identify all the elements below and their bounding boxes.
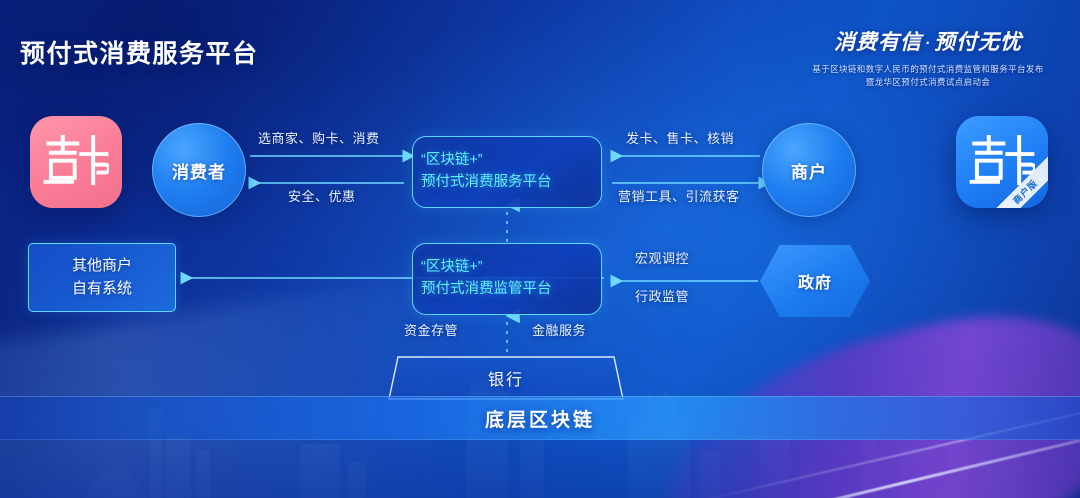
diagram-node-consumer[interactable]: 消费者 <box>152 123 246 217</box>
regulatory-platform-line-1: “区块链+” <box>421 257 593 279</box>
edge-label-consumer-to-platform: 选商家、购卡、消费 <box>258 128 380 147</box>
diagram-node-regulatory-platform[interactable]: “区块链+” 预付式消费监管平台 <box>412 243 602 315</box>
page-title: 预付式消费服务平台 <box>20 34 259 70</box>
service-platform-line-2: 预付式消费服务平台 <box>421 172 593 194</box>
other-merchant-line-2: 自有系统 <box>35 278 169 301</box>
subtitle-line-2: 暨龙华区预付式消费试点启动会 <box>798 76 1058 89</box>
node-label-bank: 银行 <box>488 366 524 390</box>
slogan: 消费有信·预付无忧 <box>798 26 1058 56</box>
slogan-block: 消费有信·预付无忧 基于区块链和数字人民币的预付式消费监管和服务平台发布 暨龙华… <box>798 26 1058 89</box>
slogan-left-text: 消费有信 <box>834 31 922 54</box>
diagram-node-service-platform[interactable]: “区块链+” 预付式消费服务平台 <box>412 136 602 208</box>
slogan-right-text: 预付无忧 <box>934 31 1022 54</box>
diagram-node-bank[interactable]: 银行 <box>388 356 624 400</box>
edge-label-fund-custody: 资金存管 <box>404 320 458 339</box>
app-icon-merchant[interactable]: 商户版 <box>956 116 1048 208</box>
edge-label-financial-service: 金融服务 <box>532 320 586 339</box>
edge-label-platform-to-merchant: 营销工具、引流获客 <box>618 186 740 205</box>
edge-label-macro-control: 宏观调控 <box>635 248 689 267</box>
wuka-logo-icon <box>43 134 109 190</box>
purple-swoosh <box>639 286 1080 498</box>
regulatory-platform-line-2: 预付式消费监管平台 <box>421 279 593 301</box>
diagram-node-merchant[interactable]: 商户 <box>762 123 856 217</box>
edge-label-merchant-to-platform: 发卡、售卡、核销 <box>626 128 734 147</box>
node-label-consumer: 消费者 <box>172 158 226 183</box>
node-label-merchant: 商户 <box>791 158 827 183</box>
slide-canvas: 预付式消费服务平台 消费有信·预付无忧 基于区块链和数字人民币的预付式消费监管和… <box>0 0 1080 498</box>
service-platform-line-1: “区块链+” <box>421 150 593 172</box>
diagram-node-government[interactable]: 政府 <box>760 245 870 317</box>
bottom-bar-label: 底层区块链 <box>485 405 595 432</box>
other-merchant-line-1: 其他商户 <box>35 255 169 278</box>
edge-label-admin-supervision: 行政监管 <box>635 286 689 305</box>
diagram-node-other-merchant-system[interactable]: 其他商户 自有系统 <box>28 243 176 312</box>
edge-label-platform-to-consumer: 安全、优惠 <box>288 186 356 205</box>
app-icon-consumer[interactable] <box>30 116 122 208</box>
node-label-government: 政府 <box>798 269 832 293</box>
slogan-separator-dot: · <box>922 35 934 52</box>
subtitle-line-1: 基于区块链和数字人民币的预付式消费监管和服务平台发布 <box>798 63 1058 76</box>
slogan-subtitle: 基于区块链和数字人民币的预付式消费监管和服务平台发布 暨龙华区预付式消费试点启动… <box>798 63 1058 89</box>
bottom-blockchain-bar: 底层区块链 <box>0 396 1080 440</box>
